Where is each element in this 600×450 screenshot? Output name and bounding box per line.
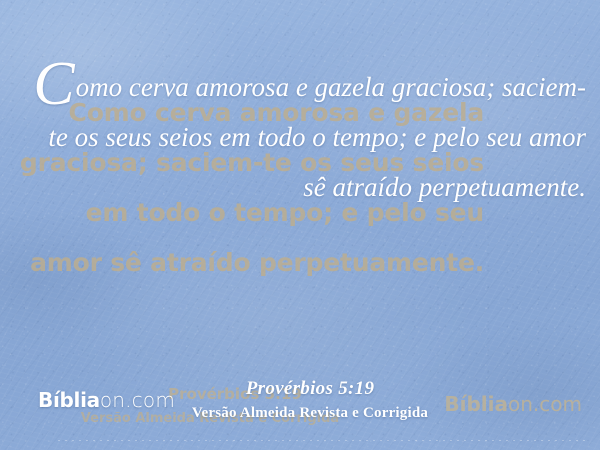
- verse-body: omo cerva amorosa e gazela graciosa; sac…: [48, 72, 586, 202]
- verse-card: Como cerva amorosa e gazela graciosa; sa…: [0, 0, 600, 450]
- bible-version: Versão Almeida Revista e Corrigida: [150, 405, 470, 422]
- verse-reference: Provérbios 5:19: [150, 378, 470, 400]
- card-footer: Bíbliaon.com Provérbios 5:19 Versão Alme…: [0, 364, 600, 450]
- footer-dotted-divider: [58, 440, 586, 441]
- site-logo-bold: Bíblia: [38, 388, 100, 412]
- reference-block: Provérbios 5:19 Versão Almeida Revista e…: [150, 378, 470, 422]
- verse-dropcap: C: [33, 50, 75, 118]
- verse-text: Como cerva amorosa e gazela graciosa; sa…: [26, 62, 586, 212]
